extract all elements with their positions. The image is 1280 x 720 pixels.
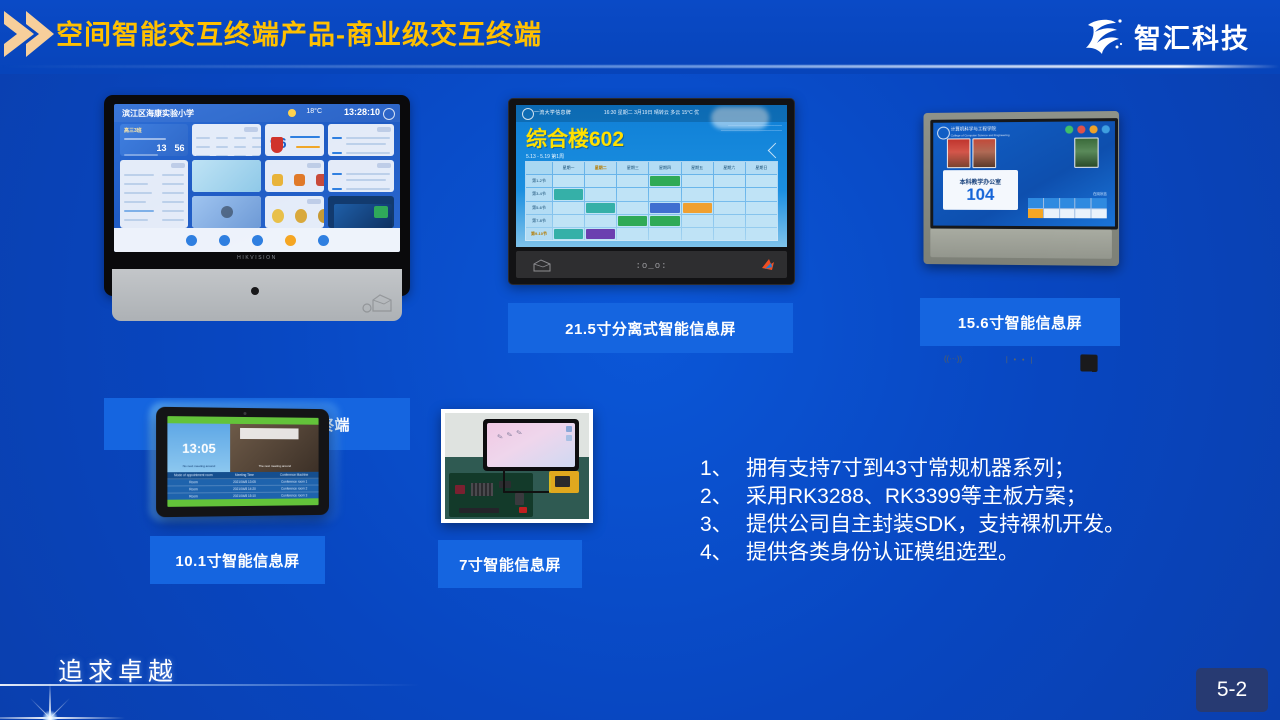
dock-icon-notice [285,235,296,246]
device-brand-label: HIKVISION [104,255,410,261]
bullet-text: 采用RK3288、RK3399等主板方案； [746,483,1087,511]
feature-item: 3、 提供公司自主封装SDK，支持裸机开发。 [700,511,1220,539]
status-title: 在岗状态 [1093,191,1107,196]
product-image-7inch: ✎ ✎ ✎ 7寸智能信息屏 [441,409,585,515]
period-label: 第1-2节 [526,175,552,187]
school-name: 滨江区海康实验小学 [122,108,194,119]
screen-dock [114,228,400,252]
bullet-number: 1、 [700,455,746,483]
tile-timetable [120,160,188,228]
university-seal-icon [522,108,534,120]
count-a: 13 [156,143,166,153]
day-header: 星期四 [649,162,680,174]
tile-notice-list [192,124,260,156]
dock-icon-class [219,235,230,246]
staff-photo-2 [972,138,996,168]
university-name: 一流大学信息牌 [534,109,571,116]
timetable-event [553,188,584,200]
dock-icon-culture [252,235,263,246]
dashboard-grid: 高三3班 13 56 [120,124,394,228]
wall-terminal-frame: 计算机科学与工程学院 College of Computer Science a… [924,111,1120,266]
datetime-weather: 16:30 星期二 3月19日 晴转云 多云 15°C 优 [604,109,699,116]
col-header: Meeting Time [219,473,269,477]
heatsink [471,483,493,496]
connector [515,493,524,505]
status-icon-info [1102,125,1110,133]
timetable-event [553,228,584,240]
wall-terminal-screen: 计算机科学与工程学院 College of Computer Science a… [930,118,1118,229]
timetable-event [649,175,680,187]
room-title: 综合楼602 [526,123,624,153]
screen-clock: 13:28:10 [344,107,380,117]
power-cable [549,475,551,493]
tile-notice-2 [328,160,394,192]
tile-medals [265,196,325,228]
day-header: 星期三 [617,162,648,174]
product-caption-5: 7寸智能信息屏 [438,540,582,588]
day-header: 星期五 [682,162,713,174]
tablet-screen: 13:05 No next meeting around The next me… [167,416,318,507]
page-number-badge: 5-2 [1196,668,1268,712]
room-card: 本科教学办公室 104 [943,170,1018,210]
header-light-streak [0,65,1280,68]
status-cell-active [1028,209,1043,219]
product-caption-3: 15.6寸智能信息屏 [920,298,1120,346]
chevron-left-icon [768,143,784,159]
tile-title: 高三3班 [124,127,142,134]
period-label: 第3-4节 [526,188,552,200]
status-icon-row [1065,125,1110,133]
timetable-event [682,202,713,214]
footer-slogan: 追求卓越 [58,652,178,688]
tv-device-frame: 一流大学信息牌 16:30 星期二 3月19日 晴转云 多云 15°C 优 ——… [508,98,795,285]
product-image-hikvision: 滨江区海康实验小学 18°C 13:28:10 高三3班 13 56 [104,95,410,323]
count-b: 56 [174,143,184,153]
bullet-text: 提供公司自主封装SDK，支持裸机开发。 [746,511,1125,539]
device-base [112,269,402,321]
mainboard [449,473,533,517]
timetable-event [617,215,648,227]
screen-doodle: ✎ ✎ ✎ [496,428,524,441]
weather-temp: 18°C [306,108,322,115]
dock-icon-profile [318,235,329,246]
period-label-active: 第9-10节 [526,228,552,240]
speaker-icon: ((·⋅·)) [944,354,962,363]
brand-name: 智汇科技 [1134,17,1250,56]
college-name-cn: 计算机科学与工程学院 [951,126,996,131]
tile-photo-keyboard [192,160,260,192]
port-row [459,508,499,513]
col-header: Conference Machine [270,473,319,477]
gear-icon [383,108,395,120]
tv-screen: 一流大学信息牌 16:30 星期二 3月19日 晴转云 多云 15°C 优 ——… [516,105,787,247]
feature-item: 2、 采用RK3288、RK3399等主板方案； [700,483,1220,511]
staff-photo-3 [1074,137,1098,167]
msg-left: No next meeting around [167,464,230,468]
msg-right: The next meeting around [230,464,318,468]
product-image-15inch: 计算机科学与工程学院 College of Computer Science a… [922,112,1118,265]
devboard-photo: ✎ ✎ ✎ [441,409,593,523]
timetable-event [649,215,680,227]
lcd-screen: ✎ ✎ ✎ [487,423,575,467]
timetable-event [585,202,616,214]
period-label: 第7-8节 [526,215,552,227]
camera-module [1080,354,1097,372]
bullet-text: 拥有支持7寸到43寸常规机器系列； [746,455,1075,483]
meeting-table: Mode of appointment room Meeting Time Co… [167,472,318,500]
camera-module [549,471,579,493]
timetable-event [585,228,616,240]
tablet-frame: 13:05 No next meeting around The next me… [156,407,329,518]
status-icon-away [1089,125,1097,133]
product-caption-4: 10.1寸智能信息屏 [150,536,325,584]
college-name: 计算机科学与工程学院 College of Computer Science a… [951,126,1010,139]
chip [499,481,511,488]
ribbon-cable [503,469,505,493]
device-indicator [251,287,259,295]
front-camera-icon [243,412,246,415]
feature-item: 4、 提供各类身份认证模组选型。 [700,539,1220,567]
lcd-panel: ✎ ✎ ✎ [483,419,579,471]
vendor-logo-icon [760,257,776,273]
day-header: 星期日 [746,162,777,174]
tile-media [328,196,394,228]
week-range: 5.13 - 5.19 第1周 [526,153,564,160]
footer-light-streak [0,684,420,686]
product-image-21inch: 一流大学信息牌 16:30 星期二 3月19日 晴转云 多云 15°C 优 ——… [508,98,793,283]
brand-logo: 智汇科技 [1080,14,1250,58]
led [519,507,527,513]
dock-icon-teaching [186,235,197,246]
bullet-text: 提供各类身份认证模组选型。 [746,539,1019,567]
staff-photo-1 [947,138,971,168]
tile-announcements [328,124,394,156]
chevron-right-icon [0,8,58,60]
tile-class-highlight: 高三3班 13 56 [120,124,188,156]
bullet-number: 3、 [700,511,746,539]
day-header-active: 星期二 [585,162,616,174]
wall-terminal-base: ((·⋅·)) | • • | [930,229,1112,259]
card-swipe-icon [531,259,553,273]
speaker-indicator: :o_o: [635,261,667,271]
status-table [1028,198,1107,218]
col-header: Mode of appointment room [167,473,219,477]
bullet-number: 4、 [700,539,746,567]
feature-list: 1、 拥有支持7寸到43寸常规机器系列； 2、 采用RK3288、RK3399等… [700,455,1220,567]
tile-photo-activity [192,196,260,228]
college-name-en: College of Computer Science and Engineer… [951,133,1010,137]
card-swipe-icon [360,291,394,315]
sun-icon [288,109,296,117]
tile-awards [265,160,325,192]
product-image-10inch: 13:05 No next meeting around The next me… [157,408,332,516]
ribbon-cable [503,491,551,493]
room-number: 104 [966,186,994,203]
company-mark-icon [1080,14,1126,58]
chip [455,485,465,494]
timetable-grid: 星期一 星期二 星期三 星期四 星期五 星期六 星期日 第1-2节 第3-4节 … [525,161,778,241]
day-header: 星期六 [714,162,745,174]
bullet-number: 2、 [700,483,746,511]
product-caption-2: 21.5寸分离式智能信息屏 [508,303,793,353]
screen-bottom-accent [167,498,318,507]
slide-canvas: 空间智能交互终端产品-商业级交互终端 智汇科技 滨江区海康实验小学 [0,0,1280,720]
page-title: 空间智能交互终端产品-商业级交互终端 [56,13,542,52]
status-cell-header [1028,198,1043,208]
period-label: 第5-6节 [526,202,552,214]
timetable-event [649,202,680,214]
hikvision-device-frame: 滨江区海康实验小学 18°C 13:28:10 高三3班 13 56 [104,95,410,296]
tile-score: 96 [265,124,325,156]
scroll-notice: ———————————————————————————————— [690,123,782,134]
hikvision-screen: 滨江区海康实验小学 18°C 13:28:10 高三3班 13 56 [114,104,400,252]
indicator-dots: | • • | [1006,357,1034,365]
status-icon-online [1065,126,1073,134]
slide-header: 空间智能交互终端产品-商业级交互终端 智汇科技 [0,0,1280,74]
day-header: 星期一 [553,162,584,174]
feature-item: 1、 拥有支持7寸到43寸常规机器系列； [700,455,1220,483]
status-icon-busy [1077,125,1085,133]
